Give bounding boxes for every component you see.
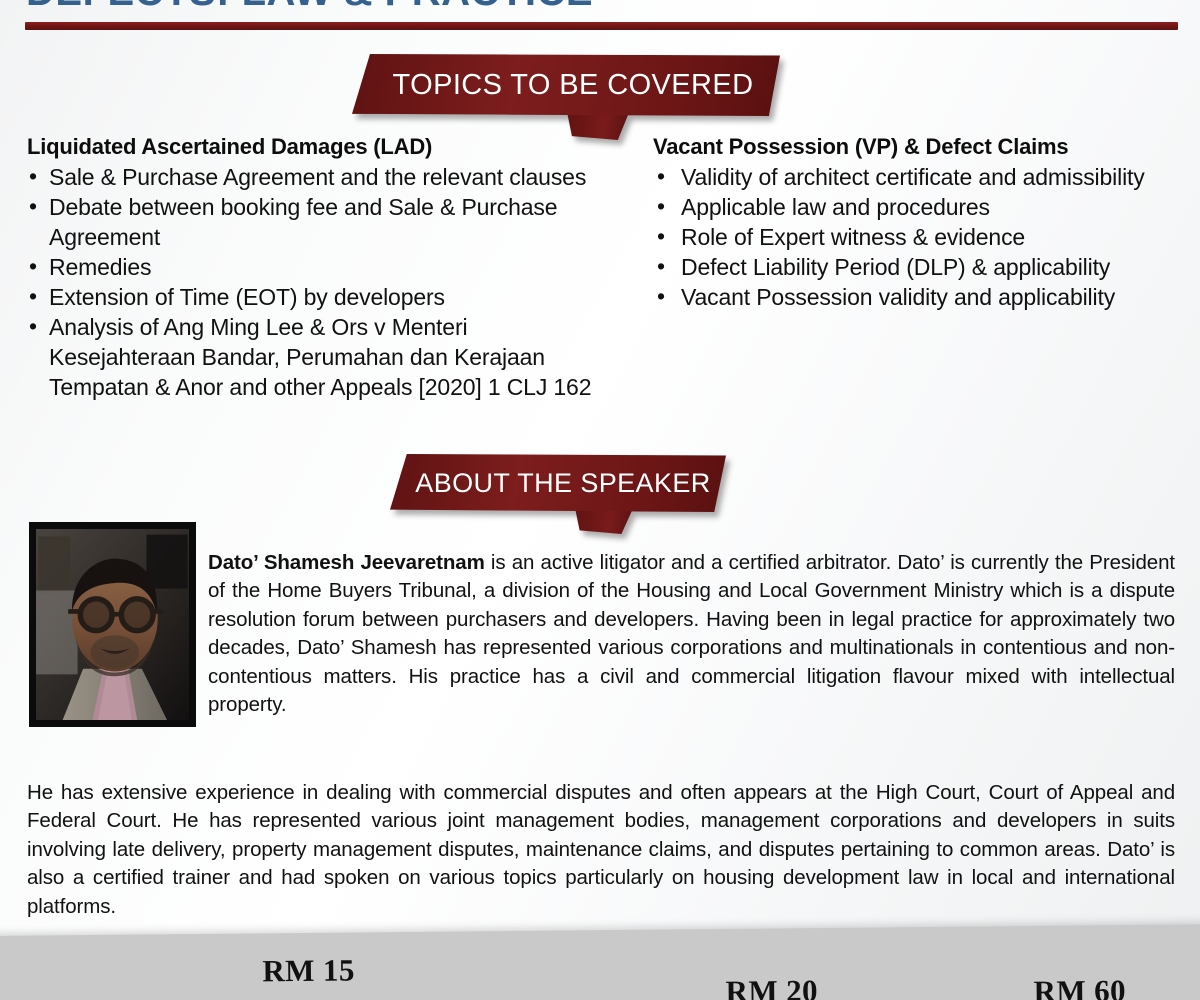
list-item: Sale & Purchase Agreement and the releva… (27, 162, 619, 192)
banner-topics-to-be-covered: TOPICS TO BE COVERED (352, 54, 780, 116)
list-item: Extension of Time (EOT) by developers (27, 282, 619, 312)
title-divider-rule (25, 22, 1178, 30)
banner-speaker-pointer-tab (575, 508, 633, 534)
list-item: Validity of architect certificate and ad… (645, 162, 1193, 192)
banner-about-the-speaker: ABOUT THE SPEAKER (390, 454, 726, 512)
speaker-bio-paragraph-1: Dato’ Shamesh Jeevaretnam is an active l… (208, 549, 1175, 720)
topics-column-lad-list: Sale & Purchase Agreement and the releva… (27, 162, 619, 402)
list-item: Remedies (27, 252, 619, 282)
banner-speaker-label: ABOUT THE SPEAKER (390, 454, 726, 512)
price-tag: RM 60 (1033, 973, 1126, 1000)
topics-column-lad-heading: Liquidated Ascertained Damages (LAD) (27, 134, 619, 160)
list-item: Defect Liability Period (DLP) & applicab… (645, 252, 1193, 282)
page-title: DEFECTS: LAW & PRACTICE (26, 0, 1176, 14)
speaker-bio-paragraph-2: He has extensive experience in dealing w… (27, 779, 1175, 922)
topics-column-vp-list: Validity of architect certificate and ad… (645, 162, 1193, 312)
speaker-portrait-photo (29, 522, 196, 727)
list-item: Analysis of Ang Ming Lee & Ors v Menteri… (27, 312, 619, 402)
banner-topics-label: TOPICS TO BE COVERED (352, 54, 780, 116)
price-tag: RM 15 (262, 953, 355, 990)
list-item: Debate between booking fee and Sale & Pu… (27, 192, 619, 252)
topics-column-lad: Liquidated Ascertained Damages (LAD) Sal… (27, 134, 619, 402)
deck-title-wrap: DEFECTS: LAW & PRACTICE (26, 0, 1176, 14)
speaker-name: Dato’ Shamesh Jeevaretnam (208, 551, 485, 574)
list-item: Applicable law and procedures (645, 192, 1193, 222)
list-item: Vacant Possession validity and applicabi… (645, 282, 1193, 312)
price-tag: RM 20 (725, 973, 818, 1000)
pricing-band: RM 15 RM 20 RM 60 (0, 924, 1200, 1000)
speaker-bio-rest: is an active litigator and a certified a… (208, 551, 1175, 717)
portrait-illustration (36, 529, 189, 720)
list-item: Role of Expert witness & evidence (645, 222, 1193, 252)
slide-canvas: DEFECTS: LAW & PRACTICE TOPICS TO BE COV… (0, 0, 1200, 1000)
topics-section: Liquidated Ascertained Damages (LAD) Sal… (0, 134, 1200, 454)
topics-column-vp: Vacant Possession (VP) & Defect Claims V… (645, 134, 1193, 312)
topics-column-vp-heading: Vacant Possession (VP) & Defect Claims (645, 134, 1193, 160)
